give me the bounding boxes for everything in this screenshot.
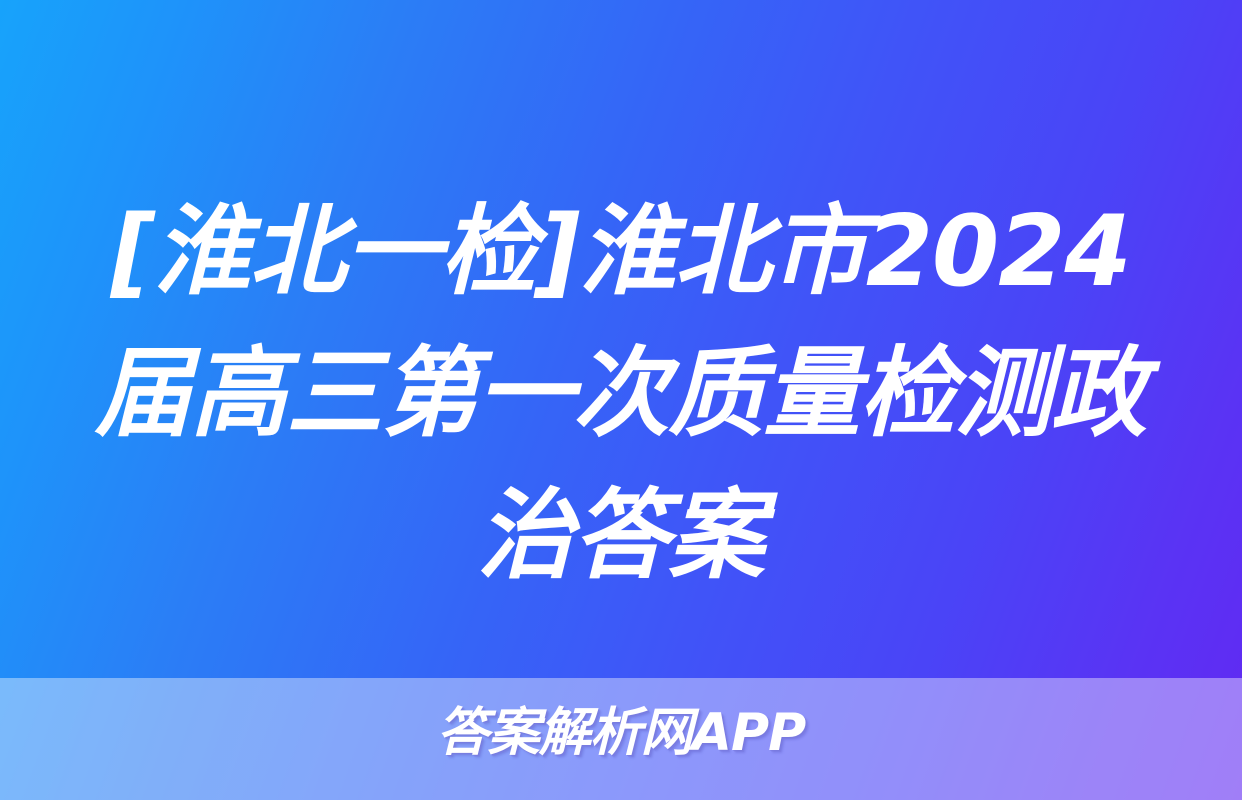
title-line-1: [淮北一检]淮北市2024: [111, 181, 1131, 323]
title-line-2: 届高三第一次质量检测政: [95, 323, 1146, 465]
watermark-label: 答案解析网APP: [437, 702, 805, 764]
poster-canvas: [淮北一检]淮北市2024 届高三第一次质量检测政 治答案 答案解析网APP: [0, 0, 1242, 800]
poster-title: [淮北一检]淮北市2024 届高三第一次质量检测政 治答案: [0, 181, 1242, 615]
title-line-3: 治答案: [478, 465, 765, 607]
watermark: 答案解析网APP: [0, 702, 1242, 764]
